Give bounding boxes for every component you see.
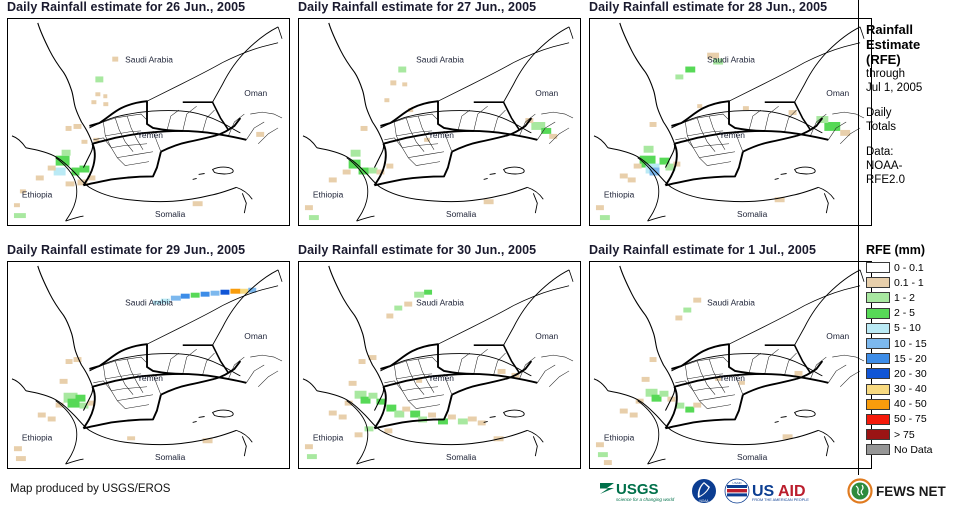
geo-label: Oman (535, 88, 558, 98)
legend-swatch (866, 429, 890, 440)
svg-text:FEWS NET: FEWS NET (876, 484, 947, 499)
sidebar-totals-line1: Daily (866, 106, 967, 120)
legend-swatch (866, 262, 890, 273)
sidebar-data-line1: Data: (866, 145, 967, 159)
sidebar-data-line3: RFE2.0 (866, 173, 967, 187)
sidebar-through-date: Jul 1, 2005 (866, 81, 967, 95)
map-panel: Daily Rainfall estimate for 1 Jul., 2005… (582, 243, 872, 478)
svg-text:science for a changing world: science for a changing world (616, 497, 675, 502)
geo-label: Ethiopia (313, 432, 344, 442)
legend-swatch (866, 338, 890, 349)
legend-label: 0.1 - 1 (894, 277, 924, 289)
geo-label: Ethiopia (22, 432, 53, 442)
geo-label: Yemen (137, 130, 163, 140)
geo-label: Oman (244, 88, 267, 98)
legend-item: 15 - 20 (866, 351, 967, 366)
map-panel-title: Daily Rainfall estimate for 28 Jun., 200… (589, 0, 872, 14)
legend-item: 40 - 50 (866, 397, 967, 412)
legend: RFE (mm) 0 - 0.10.1 - 11 - 22 - 55 - 101… (858, 243, 967, 475)
map-canvas: Saudi ArabiaOmanYemenEthiopiaSomalia (589, 261, 872, 469)
sidebar-title-line2: Estimate (866, 37, 967, 52)
map-canvas: Saudi ArabiaOmanYemenEthiopiaSomalia (589, 18, 872, 226)
map-canvas: Saudi ArabiaOmanYemenEthiopiaSomalia (298, 261, 581, 469)
geo-label: Somalia (155, 452, 186, 462)
legend-swatch (866, 292, 890, 303)
map-panel-title: Daily Rainfall estimate for 29 Jun., 200… (7, 243, 290, 257)
svg-text:USGS: USGS (616, 481, 659, 498)
legend-label: 20 - 30 (894, 368, 927, 380)
geo-label: Somalia (737, 452, 768, 462)
geo-label: Saudi Arabia (416, 298, 464, 308)
map-panel-grid: Daily Rainfall estimate for 26 Jun., 200… (0, 0, 858, 470)
geo-label: Somalia (446, 209, 477, 219)
geo-label: Ethiopia (313, 189, 344, 199)
usgs-logo: USGS science for a changing world (598, 478, 684, 504)
legend-swatch (866, 384, 890, 395)
logo-strip: USGS science for a changing world NOAA U… (598, 474, 959, 508)
legend-item: 2 - 5 (866, 306, 967, 321)
map-canvas: Saudi ArabiaOmanYemenEthiopiaSomalia (298, 18, 581, 226)
map-panel-title: Daily Rainfall estimate for 1 Jul., 2005 (589, 243, 872, 257)
geo-label: Oman (244, 331, 267, 341)
legend-swatch (866, 399, 890, 410)
legend-label: 15 - 20 (894, 353, 927, 365)
geo-label: Oman (826, 331, 849, 341)
geo-label: Saudi Arabia (125, 55, 173, 65)
map-panel: Daily Rainfall estimate for 26 Jun., 200… (0, 0, 290, 235)
map-panel-title: Daily Rainfall estimate for 27 Jun., 200… (298, 0, 581, 14)
geo-label: Yemen (719, 130, 745, 140)
map-panel: Daily Rainfall estimate for 28 Jun., 200… (582, 0, 872, 235)
svg-text:NOAA: NOAA (699, 499, 709, 503)
legend-swatch (866, 444, 890, 455)
legend-item: > 75 (866, 427, 967, 442)
sidebar-title-line3: (RFE) (866, 52, 967, 67)
legend-label: No Data (894, 444, 933, 456)
legend-item: 50 - 75 (866, 412, 967, 427)
geo-label: Saudi Arabia (707, 298, 755, 308)
legend-item: 0 - 0.1 (866, 260, 967, 275)
legend-label: > 75 (894, 429, 915, 441)
map-panel: Daily Rainfall estimate for 30 Jun., 200… (291, 243, 581, 478)
geo-label: Somalia (155, 209, 186, 219)
geo-label: Yemen (428, 373, 454, 383)
geo-label: Oman (826, 88, 849, 98)
legend-swatch (866, 277, 890, 288)
sidebar-totals-line2: Totals (866, 120, 967, 134)
legend-label: 0 - 0.1 (894, 262, 924, 274)
map-panel: Daily Rainfall estimate for 29 Jun., 200… (0, 243, 290, 478)
footer-credit: Map produced by USGS/EROS (10, 483, 170, 495)
legend-swatch (866, 353, 890, 364)
legend-swatch (866, 368, 890, 379)
geo-label: Somalia (737, 209, 768, 219)
legend-item: No Data (866, 442, 967, 457)
map-panel: Daily Rainfall estimate for 27 Jun., 200… (291, 0, 581, 235)
geo-label: Yemen (428, 130, 454, 140)
legend-title: RFE (mm) (866, 243, 967, 257)
sidebar-title-line1: Rainfall (866, 22, 967, 37)
geo-label: Saudi Arabia (707, 55, 755, 65)
svg-text:USAID: USAID (732, 481, 742, 485)
legend-label: 1 - 2 (894, 292, 915, 304)
legend-item: 30 - 40 (866, 382, 967, 397)
legend-item: 0.1 - 1 (866, 275, 967, 290)
geo-label: Saudi Arabia (416, 55, 464, 65)
legend-rows: 0 - 0.10.1 - 11 - 22 - 55 - 1010 - 1515 … (866, 260, 967, 457)
svg-text:FROM THE AMERICAN PEOPLE: FROM THE AMERICAN PEOPLE (752, 498, 809, 502)
usaid-logo: USAID US AID FROM THE AMERICAN PEOPLE (724, 478, 840, 504)
geo-label: Saudi Arabia (125, 298, 173, 308)
geo-label: Somalia (446, 452, 477, 462)
legend-label: 10 - 15 (894, 338, 927, 350)
sidebar-data-line2: NOAA- (866, 159, 967, 173)
legend-item: 1 - 2 (866, 290, 967, 305)
legend-item: 20 - 30 (866, 366, 967, 381)
legend-swatch (866, 308, 890, 319)
geo-label: Yemen (137, 373, 163, 383)
legend-item: 10 - 15 (866, 336, 967, 351)
geo-label: Yemen (719, 373, 745, 383)
legend-label: 50 - 75 (894, 413, 927, 425)
map-panel-title: Daily Rainfall estimate for 26 Jun., 200… (7, 0, 290, 14)
legend-item: 5 - 10 (866, 321, 967, 336)
geo-label: Ethiopia (604, 189, 635, 199)
legend-label: 40 - 50 (894, 398, 927, 410)
geo-label: Ethiopia (604, 432, 635, 442)
legend-label: 30 - 40 (894, 383, 927, 395)
map-canvas: Saudi ArabiaOmanYemenEthiopiaSomalia (7, 18, 290, 226)
geo-label: Oman (535, 331, 558, 341)
map-panel-title: Daily Rainfall estimate for 30 Jun., 200… (298, 243, 581, 257)
sidebar-through: through (866, 67, 967, 81)
map-canvas: Saudi ArabiaOmanYemenEthiopiaSomalia (7, 261, 290, 469)
geo-label: Ethiopia (22, 189, 53, 199)
legend-label: 5 - 10 (894, 322, 921, 334)
fewsnet-logo: FEWS NET (847, 478, 959, 504)
legend-swatch (866, 414, 890, 425)
noaa-logo: NOAA (691, 478, 717, 504)
legend-swatch (866, 323, 890, 334)
legend-label: 2 - 5 (894, 307, 915, 319)
